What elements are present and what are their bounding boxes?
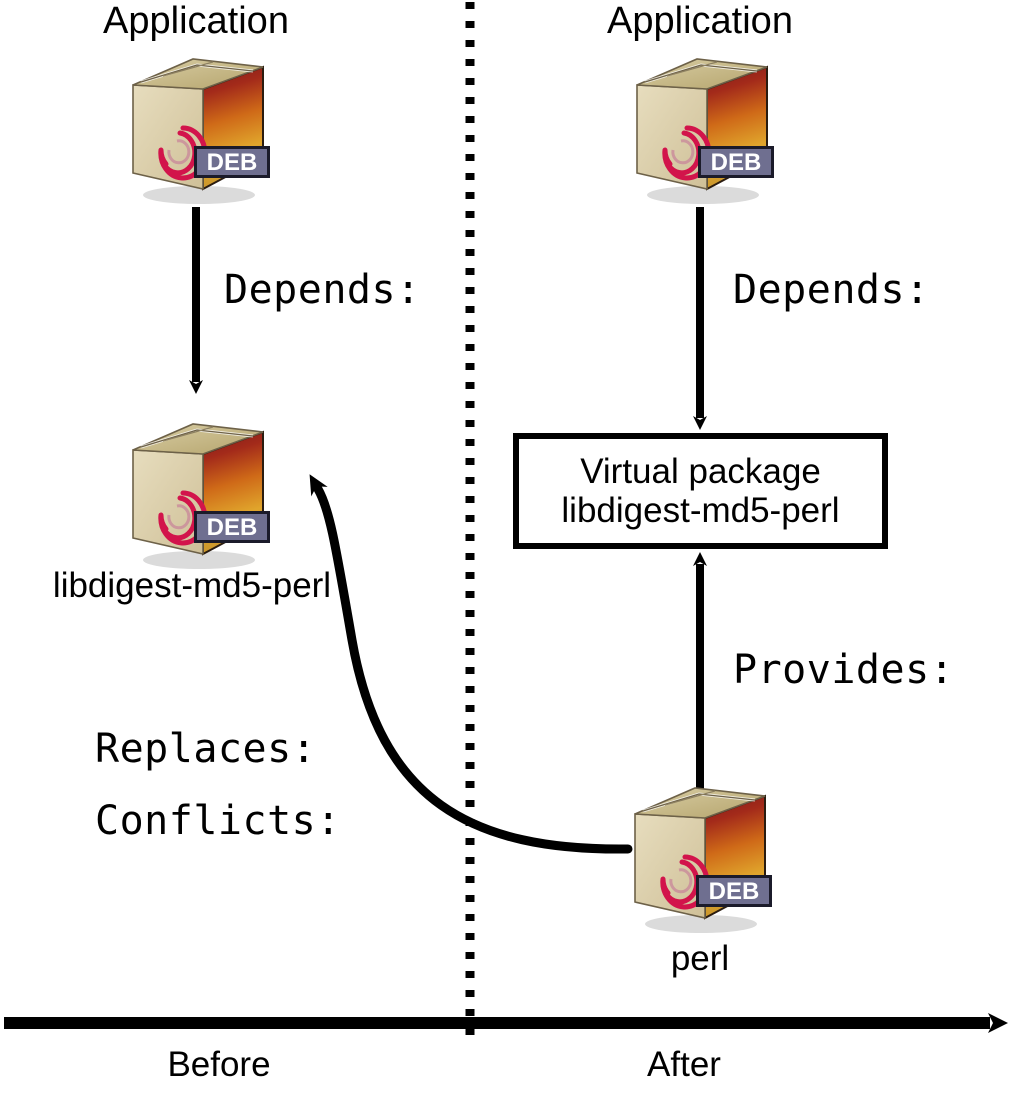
axis-label-after: After (647, 1047, 721, 1082)
deb-badge-label: DEB (207, 149, 258, 176)
virtual-package-box: Virtual package libdigest-md5-perl (513, 433, 888, 549)
virtual-package-title: Virtual package (580, 452, 821, 491)
relation-replaces: Replaces: (95, 729, 316, 769)
deb-badge-label: DEB (709, 878, 760, 905)
relation-depends-after: Depends: (733, 270, 930, 310)
deb-badge-label: DEB (207, 514, 258, 541)
deb-badge-label: DEB (711, 149, 762, 176)
deb-badge: DEB (696, 875, 772, 907)
deb-badge: DEB (194, 146, 270, 178)
heading-application-after: Application (607, 2, 793, 40)
heading-application-before: Application (103, 2, 289, 40)
virtual-package-name: libdigest-md5-perl (561, 491, 839, 530)
deb-package-icon-perl: DEB (619, 778, 784, 938)
diagram-canvas: DEB DEB (0, 0, 1024, 1094)
relation-depends-before: Depends: (224, 270, 421, 310)
deb-package-icon-app-after: DEB (621, 49, 786, 209)
deb-box-graphic: DEB (117, 414, 282, 574)
relation-provides: Provides: (733, 650, 954, 690)
caption-perl: perl (671, 941, 729, 976)
deb-badge: DEB (698, 146, 774, 178)
deb-box-graphic: DEB (621, 49, 786, 209)
deb-package-icon-app-before: DEB (117, 49, 282, 209)
axis-label-before: Before (167, 1047, 270, 1082)
deb-package-icon-libdigest: DEB (117, 414, 282, 574)
deb-box-graphic: DEB (619, 778, 784, 938)
deb-box-graphic: DEB (117, 49, 282, 209)
deb-badge: DEB (194, 511, 270, 543)
relation-conflicts: Conflicts: (95, 801, 341, 841)
